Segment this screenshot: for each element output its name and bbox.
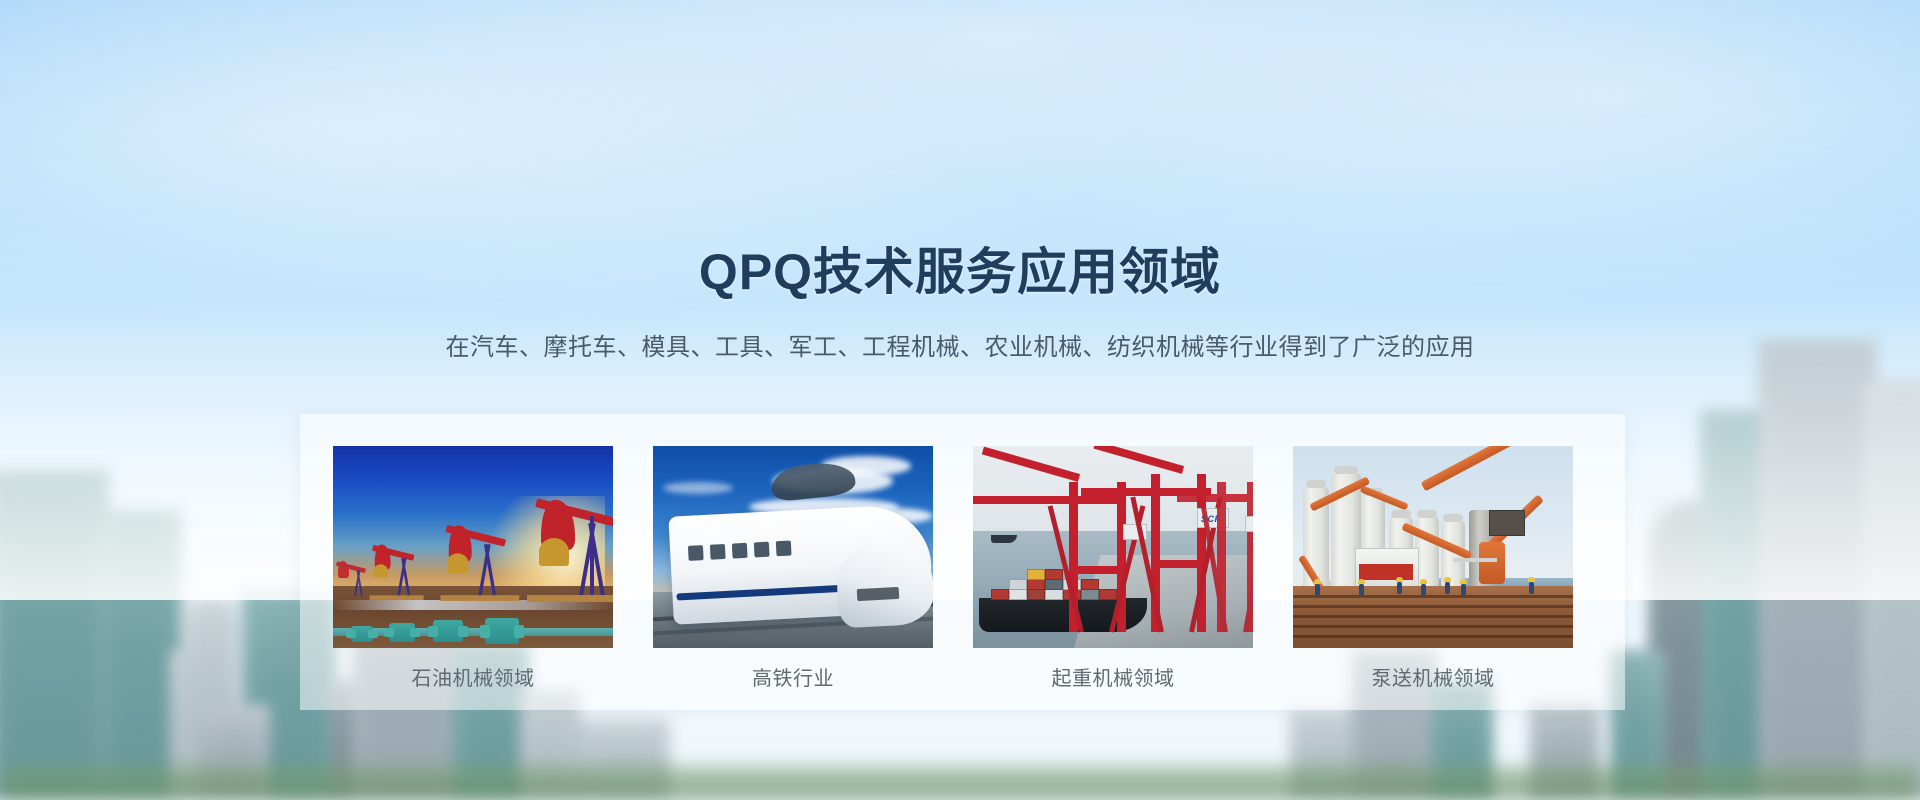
high-speed-train-photo[interactable] bbox=[653, 446, 933, 648]
hero-banner: QPQ技术服务应用领域 在汽车、摩托车、模具、工具、军工、工程机械、农业机械、纺… bbox=[0, 0, 1920, 800]
card-label: 高铁行业 bbox=[653, 662, 933, 691]
card-label: 石油机械领域 bbox=[333, 662, 613, 691]
application-card[interactable]: 泵送机械领域 bbox=[1293, 446, 1573, 686]
application-card[interactable]: 石油机械领域 bbox=[333, 446, 613, 686]
page-subtitle: 在汽车、摩托车、模具、工具、军工、工程机械、农业机械、纺织机械等行业得到了广泛的… bbox=[0, 327, 1920, 362]
card-label: 起重机械领域 bbox=[973, 662, 1253, 691]
page-title: QPQ技术服务应用领域 bbox=[0, 232, 1920, 304]
card-label: 泵送机械领域 bbox=[1293, 662, 1573, 691]
application-card[interactable]: 高铁行业 bbox=[653, 446, 933, 686]
application-cards-list: 石油机械领域 bbox=[300, 446, 1625, 686]
application-card[interactable]: SCF 起重机械领域 bbox=[973, 446, 1253, 686]
concrete-pumping-machinery-photo[interactable] bbox=[1293, 446, 1573, 648]
oil-pumpjacks-photo[interactable] bbox=[333, 446, 613, 648]
port-gantry-cranes-photo[interactable]: SCF bbox=[973, 446, 1253, 648]
